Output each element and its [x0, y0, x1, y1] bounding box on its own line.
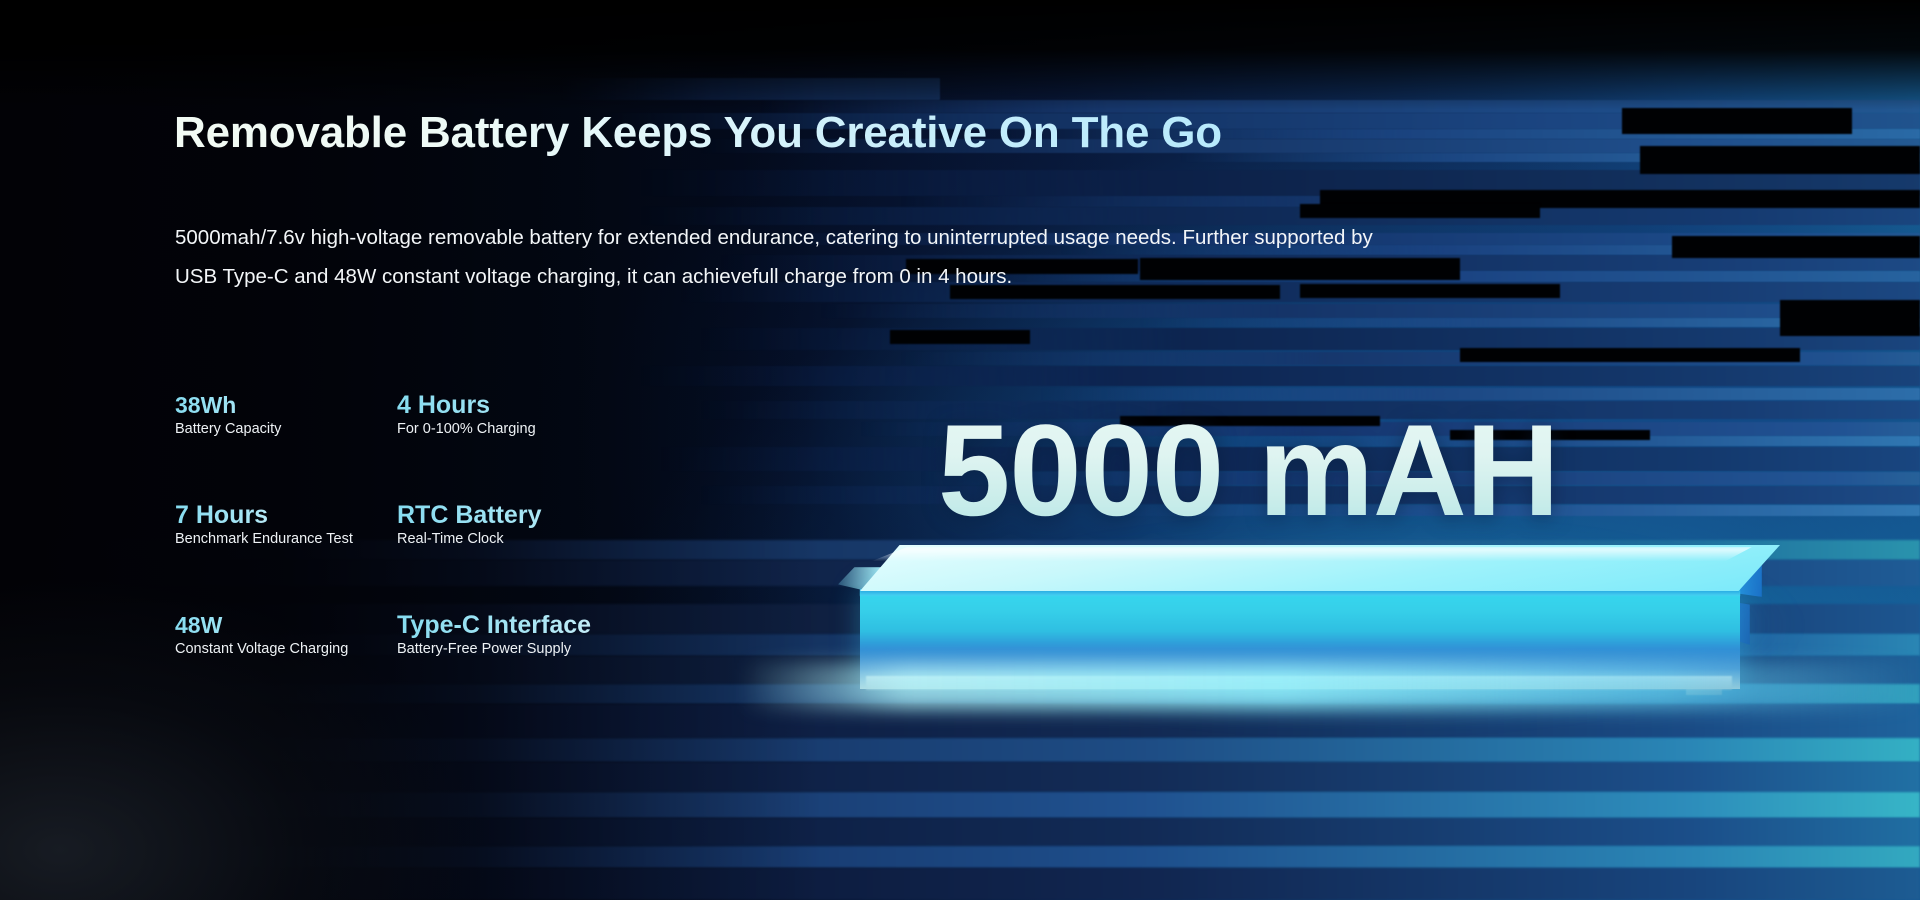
- page-title: Removable Battery Keeps You Creative On …: [174, 108, 1222, 158]
- spec-value: 48W: [175, 612, 397, 638]
- spec-label: Benchmark Endurance Test: [175, 530, 397, 548]
- spec-item-battery-capacity: 38Wh Battery Capacity: [175, 392, 397, 502]
- spec-value: 4 Hours: [397, 392, 797, 418]
- spec-value: Type-C Interface: [397, 612, 797, 638]
- spec-value: 7 Hours: [175, 502, 397, 528]
- spec-item-endurance: 7 Hours Benchmark Endurance Test: [175, 502, 397, 612]
- spec-label: Battery-Free Power Supply: [397, 640, 797, 658]
- spec-row: 38Wh Battery Capacity 4 Hours For 0-100%…: [175, 392, 797, 502]
- battery-feature-banner: 5000 mAH Removable Battery Keeps You Cre…: [0, 0, 1920, 900]
- description-paragraph: 5000mah/7.6v high-voltage removable batt…: [175, 218, 1405, 296]
- spec-label: Battery Capacity: [175, 420, 397, 438]
- spec-label: Constant Voltage Charging: [175, 640, 397, 658]
- spec-row: 7 Hours Benchmark Endurance Test RTC Bat…: [175, 502, 797, 612]
- spec-value: RTC Battery: [397, 502, 797, 528]
- spec-item-type-c-interface: Type-C Interface Battery-Free Power Supp…: [397, 612, 797, 722]
- spec-value: 38Wh: [175, 392, 397, 418]
- content-layer: Removable Battery Keeps You Creative On …: [0, 0, 1920, 900]
- spec-item-charging-time: 4 Hours For 0-100% Charging: [397, 392, 797, 502]
- spec-row: 48W Constant Voltage Charging Type-C Int…: [175, 612, 797, 722]
- spec-grid: 38Wh Battery Capacity 4 Hours For 0-100%…: [175, 392, 797, 722]
- spec-label: Real-Time Clock: [397, 530, 797, 548]
- spec-label: For 0-100% Charging: [397, 420, 797, 438]
- spec-item-rtc-battery: RTC Battery Real-Time Clock: [397, 502, 797, 612]
- spec-item-constant-voltage: 48W Constant Voltage Charging: [175, 612, 397, 722]
